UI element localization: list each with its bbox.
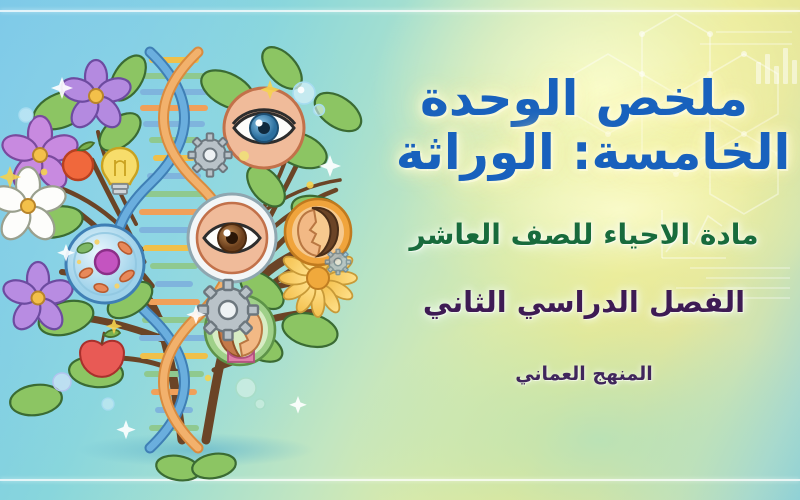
blue-eye — [224, 88, 304, 168]
gear-small — [188, 133, 231, 176]
banner-title-line-1: ملخص الوحدة — [420, 74, 748, 124]
banner-curriculum-line: المنهج العماني — [515, 363, 653, 385]
gear-tiny — [325, 249, 350, 274]
banner-term-line: الفصل الدراسي الثاني — [423, 285, 745, 319]
gear-large — [198, 280, 258, 340]
red-apple — [80, 330, 124, 377]
banner-subject-line: مادة الاحياء للصف العاشر — [409, 218, 758, 251]
genetics-banner: ملخص الوحدة الخامسة: الوراثة مادة الاحيا… — [0, 0, 800, 500]
genetics-tree-illustration — [0, 0, 400, 500]
animal-cell — [66, 225, 144, 303]
banner-text-block: ملخص الوحدة الخامسة: الوراثة مادة الاحيا… — [374, 0, 794, 500]
banner-title-line-2: الخامسة: الوراثة — [396, 128, 791, 178]
cell-nucleus — [95, 250, 119, 274]
brown-eye — [188, 194, 276, 282]
